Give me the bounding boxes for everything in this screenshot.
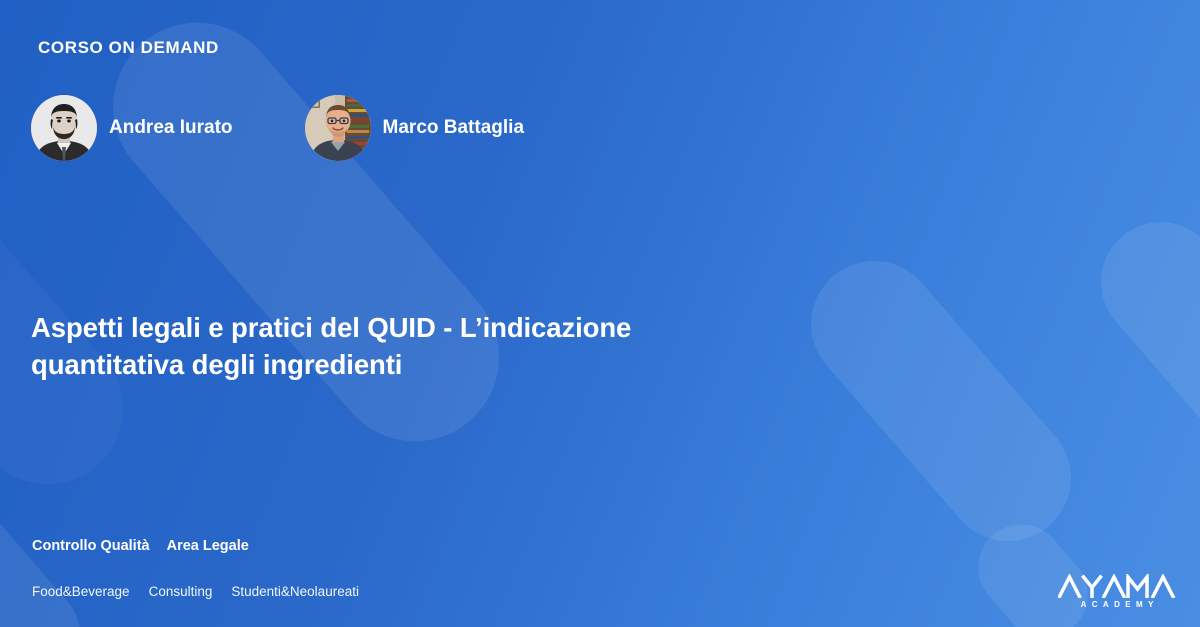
decorative-pill-right-edge xyxy=(1076,197,1200,502)
tag-food-beverage[interactable]: Food&Beverage xyxy=(32,584,130,599)
tag-consulting[interactable]: Consulting xyxy=(149,584,213,599)
speaker-name: Andrea Iurato xyxy=(109,117,233,139)
ayama-wordmark-icon xyxy=(1058,574,1176,598)
decorative-pill-large-center xyxy=(79,0,534,476)
course-type-label: CORSO ON DEMAND xyxy=(38,38,219,58)
brand-logo: ACADEMY xyxy=(1058,574,1176,609)
speaker-item: Marco Battaglia xyxy=(305,95,524,161)
tag-area-legale[interactable]: Area Legale xyxy=(167,538,249,554)
speaker-item: Andrea Iurato xyxy=(31,95,233,161)
course-promo-slide: CORSO ON DEMAND xyxy=(0,0,1200,627)
secondary-tag-list: Food&Beverage Consulting Studenti&Neolau… xyxy=(32,584,359,599)
primary-tag-list: Controllo Qualità Area Legale xyxy=(32,538,249,554)
tag-controllo-qualita[interactable]: Controllo Qualità xyxy=(32,538,150,554)
avatar xyxy=(305,95,371,161)
decorative-pill-right xyxy=(785,235,1097,567)
speaker-name: Marco Battaglia xyxy=(383,117,524,139)
tag-studenti-neolaureati[interactable]: Studenti&Neolaureati xyxy=(231,584,359,599)
logo-subtitle: ACADEMY xyxy=(1075,601,1159,609)
page-title: Aspetti legali e pratici del QUID - L’in… xyxy=(31,310,681,383)
avatar xyxy=(31,95,97,161)
speaker-list: Andrea Iurato xyxy=(31,95,524,161)
